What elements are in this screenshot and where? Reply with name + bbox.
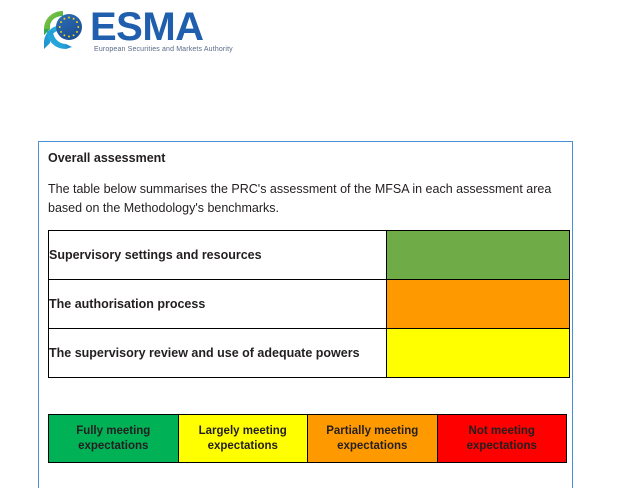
assessment-table-body: Supervisory settings and resources The a…	[49, 231, 570, 378]
rating-swatch-partially-meeting	[387, 280, 570, 329]
assessment-area-label: Supervisory settings and resources	[49, 231, 387, 280]
rating-swatch-largely-meeting	[387, 329, 570, 378]
legend-item-fully-meeting: Fully meeting expectations	[49, 415, 179, 463]
esma-wordmark: ESMA	[90, 6, 204, 48]
legend-row: Fully meeting expectations Largely meeti…	[49, 415, 567, 463]
assessment-area-label: The authorisation process	[49, 280, 387, 329]
esma-eu-circle-swoosh-icon	[42, 8, 88, 52]
table-row: Supervisory settings and resources	[49, 231, 570, 280]
assessment-table: Supervisory settings and resources The a…	[48, 230, 570, 378]
page-title: Overall assessment	[48, 151, 165, 165]
rating-legend-body: Fully meeting expectations Largely meeti…	[49, 415, 567, 463]
legend-item-not-meeting: Not meeting expectations	[437, 415, 567, 463]
legend-item-largely-meeting: Largely meeting expectations	[178, 415, 308, 463]
table-row: The supervisory review and use of adequa…	[49, 329, 570, 378]
legend-item-partially-meeting: Partially meeting expectations	[308, 415, 438, 463]
table-row: The authorisation process	[49, 280, 570, 329]
rating-legend: Fully meeting expectations Largely meeti…	[48, 414, 567, 463]
esma-tagline: European Securities and Markets Authorit…	[94, 46, 233, 53]
esma-logo: ESMA European Securities and Markets Aut…	[42, 6, 292, 58]
overall-assessment-panel: Overall assessment The table below summa…	[38, 141, 573, 488]
intro-paragraph: The table below summarises the PRC's ass…	[48, 180, 568, 218]
rating-swatch-fully-meeting	[387, 231, 570, 280]
assessment-area-label: The supervisory review and use of adequa…	[49, 329, 387, 378]
